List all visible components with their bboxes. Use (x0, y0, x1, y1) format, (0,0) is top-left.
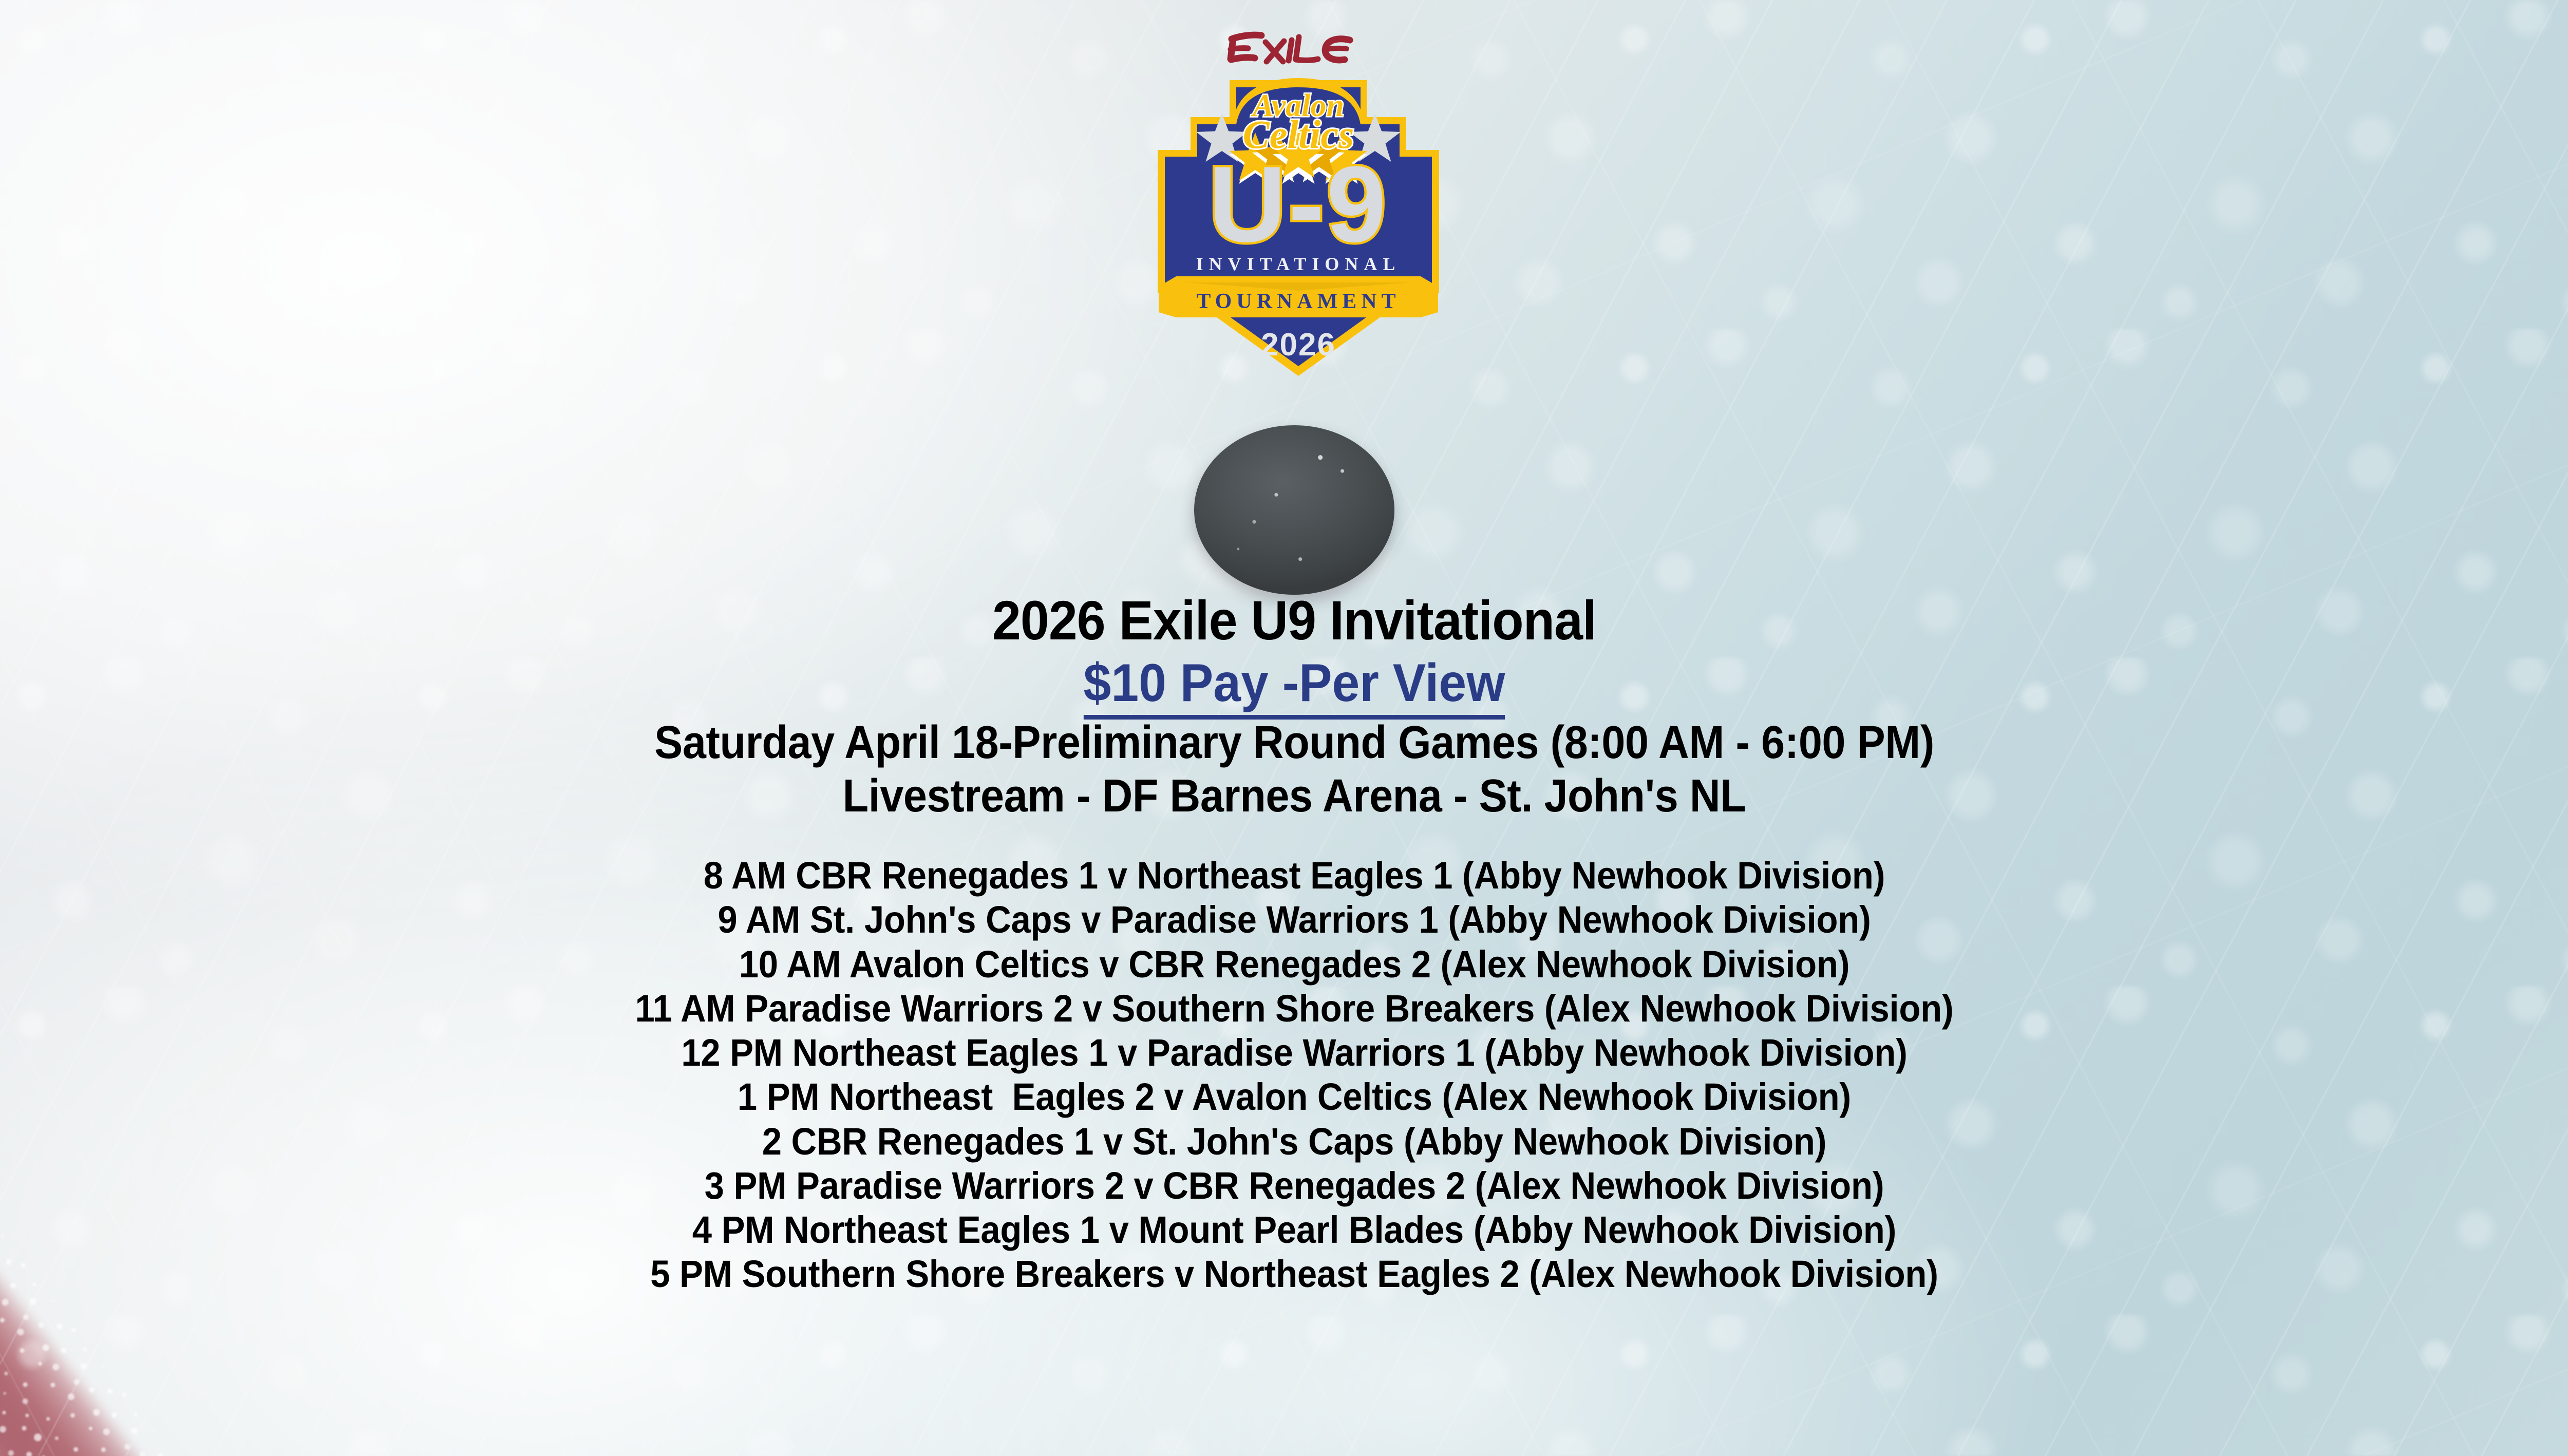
event-venue-line: Livestream - DF Barnes Arena - St. John'… (104, 769, 2485, 823)
tournament-poster: Avalon Celtics U-9 INVITATIONAL TOURNAME… (0, 0, 2568, 1456)
pay-per-view-label: $10 Pay -Per View (1084, 653, 1505, 720)
list-item: 8 AM CBR Renegades 1 v Northeast Eagles … (90, 854, 2498, 898)
tournament-logo: Avalon Celtics U-9 INVITATIONAL TOURNAME… (1129, 5, 1468, 401)
page-title: 2026 Exile U9 Invitational (90, 591, 2498, 651)
list-item: 12 PM Northeast Eagles 1 v Paradise Warr… (90, 1031, 2498, 1075)
banner-text: TOURNAMENT (1196, 290, 1400, 313)
exile-script-icon (1231, 35, 1350, 62)
list-item: 3 PM Paradise Warriors 2 v CBR Renegades… (90, 1164, 2498, 1208)
event-date-line: Saturday April 18-Preliminary Round Game… (104, 716, 2485, 769)
list-item: 9 AM St. John's Caps v Paradise Warriors… (90, 898, 2498, 942)
pay-per-view-link[interactable]: $10 Pay -Per View (90, 651, 2498, 716)
list-item: 1 PM Northeast Eagles 2 v Avalon Celtics… (90, 1075, 2498, 1119)
hockey-puck (1194, 425, 1394, 595)
poster-text-block: 2026 Exile U9 Invitational $10 Pay -Per … (0, 591, 2568, 1296)
age-group-text: U-9 (1209, 144, 1388, 264)
list-item: 10 AM Avalon Celtics v CBR Renegades 2 (… (90, 942, 2498, 987)
event-type-text: INVITATIONAL (1196, 254, 1401, 274)
list-item: 11 AM Paradise Warriors 2 v Southern Sho… (90, 987, 2498, 1031)
puck-ice-flecks (1194, 425, 1394, 595)
year-text: 2026 (1261, 327, 1336, 363)
game-schedule-list: 8 AM CBR Renegades 1 v Northeast Eagles … (0, 854, 2568, 1296)
list-item: 5 PM Southern Shore Breakers v Northeast… (90, 1252, 2498, 1296)
list-item: 4 PM Northeast Eagles 1 v Mount Pearl Bl… (90, 1208, 2498, 1252)
list-item: 2 CBR Renegades 1 v St. John's Caps (Abb… (90, 1120, 2498, 1164)
